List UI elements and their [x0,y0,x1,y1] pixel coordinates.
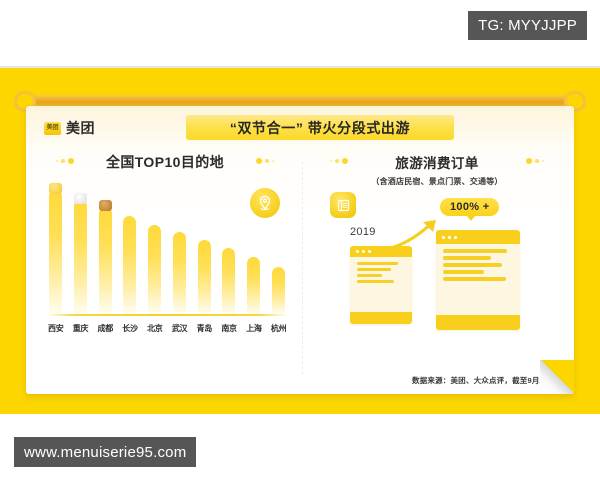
chart-bar [148,225,161,314]
bar-slot [271,190,286,314]
silver-medal-icon [74,193,87,204]
chart-x-label: 南京 [221,323,236,334]
infographic-card: 美团 美团 “双节合一” 带火分段式出游 全国TOP10目的地 [26,106,574,394]
left-panel-heading: 全国TOP10目的地 [106,154,224,170]
panel-divider [302,162,303,374]
right-panel-heading: 旅游消费订单 [395,156,478,171]
chart-baseline [46,314,288,316]
order-sheet-current [436,230,520,330]
chart-x-label: 杭州 [271,323,286,334]
chart-x-axis-labels: 西安重庆成都长沙北京武汉青岛南京上海杭州 [48,323,286,334]
infographic-poster: 美团 美团 “双节合一” 带火分段式出游 全国TOP10目的地 [0,68,600,414]
bronze-medal-icon [99,200,112,211]
chart-bar [173,232,186,314]
bar-series [48,190,286,314]
right-panel-heading-row: 旅游消费订单 [306,152,568,172]
chart-bar [74,200,87,314]
chart-bar [222,248,235,314]
bar-slot [221,190,236,314]
chart-bar [49,190,62,314]
chart-bar [198,240,211,314]
brand-name: 美团 [66,118,95,138]
telegram-watermark-badge: TG: MYYJJPP [468,11,587,40]
telegram-watermark-text: TG: MYYJJPP [478,17,577,34]
bar-slot [197,190,212,314]
chart-x-label: 成都 [98,323,113,334]
chart-x-label: 上海 [246,323,261,334]
chart-x-label: 西安 [48,323,63,334]
site-watermark-badge: www.menuiserie95.com [14,437,196,467]
year-label: 2019 [350,226,376,238]
sheet-lines-2 [436,244,520,286]
growth-badge: 100% + [440,198,499,216]
sheet-titlebar [350,246,412,257]
bar-slot [172,190,187,314]
page-corner-fold [540,360,574,394]
bar-slot [73,190,88,314]
chart-bar [99,207,112,314]
chart-x-label: 重庆 [73,323,88,334]
left-panel: 全国TOP10目的地 西安重庆成都长沙北 [32,152,298,384]
screenshot-stage: TG: MYYJJPP 美团 美团 “双节合一” 带火分段式出游 全国TOP10 [0,0,600,480]
chart-x-label: 武汉 [172,323,187,334]
poster-title: “双节合一” 带火分段式出游 [230,118,410,138]
decorative-dots-left [56,158,74,164]
bar-slot [48,190,63,314]
bar-slot [147,190,162,314]
brand-lockup: 美团 美团 [44,118,95,138]
sheet-footerbar [350,312,412,324]
left-panel-heading-row: 全国TOP10目的地 [32,152,298,172]
poster-title-banner: “双节合一” 带火分段式出游 [186,115,454,140]
document-list-icon [330,192,356,218]
bar-slot [98,190,113,314]
chart-x-label: 长沙 [122,323,137,334]
chart-x-label: 北京 [147,323,162,334]
site-watermark-text: www.menuiserie95.com [24,444,186,461]
top10-bar-chart: 西安重庆成都长沙北京武汉青岛南京上海杭州 [48,186,286,336]
sheet-lines [350,257,412,288]
decorative-dots-right-2 [526,158,544,164]
bar-slot [122,190,137,314]
decorative-dots-right [256,158,274,164]
sheet-footerbar-2 [436,315,520,330]
order-sheet-2019 [350,246,412,324]
growth-badge-text: 100% + [450,201,489,213]
chart-bar [247,257,260,314]
decorative-dots-left-2 [330,158,348,164]
chart-bar [123,216,136,314]
right-panel-subheading: （含酒店民宿、景点门票、交通等） [306,176,568,187]
gold-medal-icon [49,183,62,194]
sheet-titlebar-2 [436,230,520,244]
bar-slot [246,190,261,314]
chart-x-label: 青岛 [197,323,212,334]
meituan-logo-icon: 美团 [44,122,61,135]
orders-illustration: 2019 100% + [306,190,568,380]
source-note: 数据来源：美团、大众点评，截至9月20日 [412,375,556,386]
right-panel: 旅游消费订单 （含酒店民宿、景点门票、交通等） [306,152,568,384]
chart-bar [272,267,285,314]
